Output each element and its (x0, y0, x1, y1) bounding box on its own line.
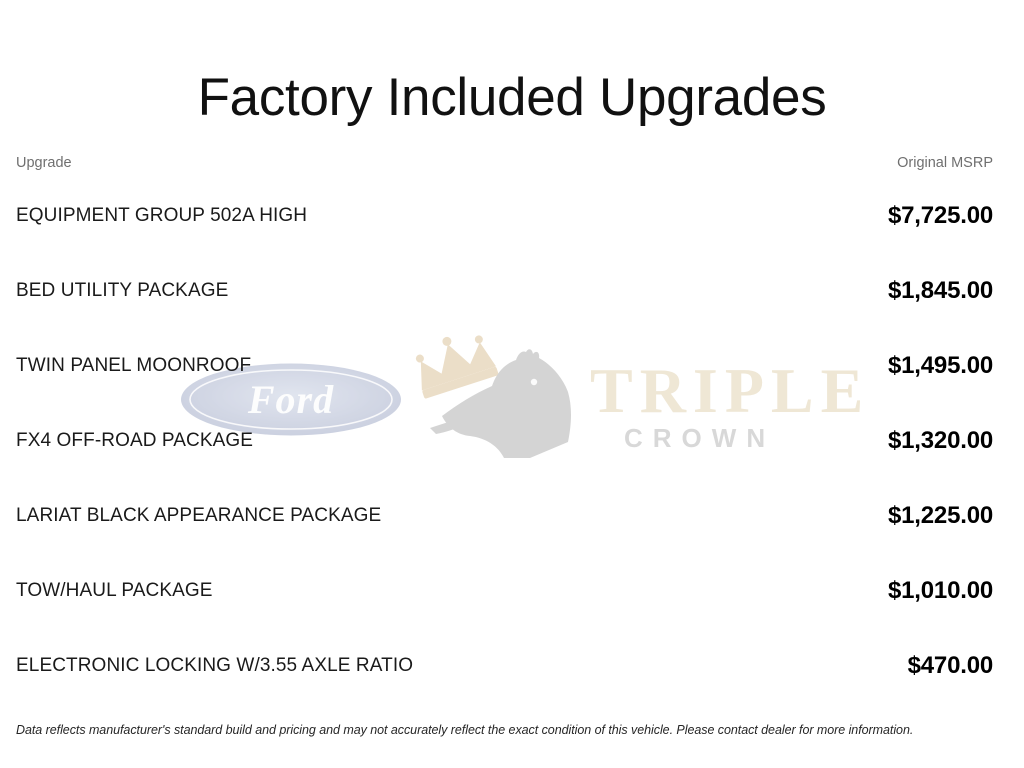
table-body: EQUIPMENT GROUP 502A HIGH$7,725.00BED UT… (16, 178, 993, 703)
upgrade-name: EQUIPMENT GROUP 502A HIGH (16, 178, 789, 253)
table-row: LARIAT BLACK APPEARANCE PACKAGE$1,225.00 (16, 478, 993, 553)
upgrades-page: Ford TRIPLE CROWN Factory Includ (0, 0, 1024, 768)
upgrade-price: $1,495.00 (789, 328, 993, 403)
upgrade-price: $7,725.00 (789, 178, 993, 253)
page-title: Factory Included Upgrades (0, 69, 1024, 127)
upgrade-name: FX4 OFF-ROAD PACKAGE (16, 403, 789, 478)
table-header: Upgrade Original MSRP (16, 155, 993, 178)
upgrades-table: Upgrade Original MSRP EQUIPMENT GROUP 50… (16, 155, 993, 703)
table-header-row: Upgrade Original MSRP (16, 155, 993, 178)
column-header-upgrade: Upgrade (16, 155, 789, 178)
table-row: FX4 OFF-ROAD PACKAGE$1,320.00 (16, 403, 993, 478)
table-row: BED UTILITY PACKAGE$1,845.00 (16, 253, 993, 328)
column-header-original-msrp: Original MSRP (789, 155, 993, 178)
upgrade-price: $1,320.00 (789, 403, 993, 478)
table-row: TWIN PANEL MOONROOF$1,495.00 (16, 328, 993, 403)
upgrade-name: TOW/HAUL PACKAGE (16, 553, 789, 628)
table-row: ELECTRONIC LOCKING W/3.55 AXLE RATIO$470… (16, 628, 993, 703)
table-row: EQUIPMENT GROUP 502A HIGH$7,725.00 (16, 178, 993, 253)
upgrade-name: BED UTILITY PACKAGE (16, 253, 789, 328)
upgrade-price: $1,010.00 (789, 553, 993, 628)
upgrade-price: $470.00 (789, 628, 993, 703)
upgrade-name: LARIAT BLACK APPEARANCE PACKAGE (16, 478, 789, 553)
disclaimer-text: Data reflects manufacturer's standard bu… (16, 723, 1006, 737)
upgrade-price: $1,225.00 (789, 478, 993, 553)
upgrade-name: TWIN PANEL MOONROOF (16, 328, 789, 403)
table-row: TOW/HAUL PACKAGE$1,010.00 (16, 553, 993, 628)
upgrade-price: $1,845.00 (789, 253, 993, 328)
upgrade-name: ELECTRONIC LOCKING W/3.55 AXLE RATIO (16, 628, 789, 703)
